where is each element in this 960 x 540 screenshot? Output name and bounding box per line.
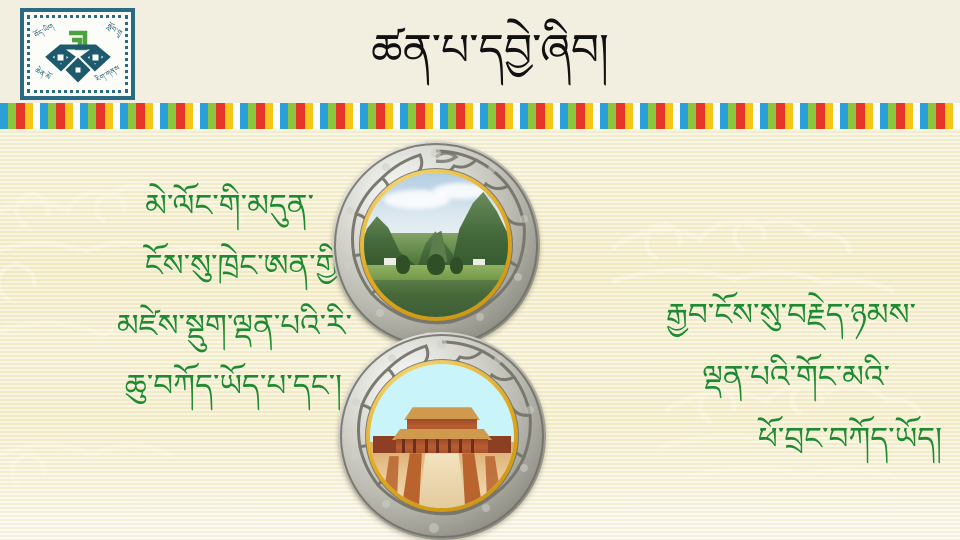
palace-central-stairway (419, 453, 465, 508)
page-title: ཚན་པ་དབྱེ་ཞིབ། (250, 10, 730, 90)
slide-header: བོད་ཡིག སློབ་གྲྭ ཆེན་མོ རིག་གནས ཚན་པ་དབྱ… (0, 0, 960, 103)
palace-scene (370, 364, 514, 508)
palace-column (413, 439, 416, 453)
palace-column (436, 439, 439, 453)
palace-lower-hall (396, 439, 488, 453)
karst-scene (364, 173, 508, 317)
right-text-line-1: རྒྱབ་ངོས་སུ་བརྗེད་ཉམས་ (556, 284, 952, 346)
house (384, 258, 396, 265)
palace-column (471, 439, 474, 453)
palace-column (402, 439, 405, 453)
house (473, 259, 485, 265)
decorative-stripe-band (0, 103, 960, 129)
left-text-block: མེ་ལོང་གི་མདུན་ ངོས་སུ་ཁྲེང་ཨན་གྱི་ མཛེས… (0, 176, 352, 416)
water (364, 280, 508, 317)
left-text-line-1: མེ་ལོང་གི་མདུན་ (0, 176, 352, 236)
left-text-line-4: ཆུ་བཀོད་ཡོད་པ་དང་། (0, 356, 352, 416)
right-text-line-2: ལྡན་པའི་གོང་མའི་ (556, 346, 952, 408)
institution-logo: བོད་ཡིག སློབ་གྲྭ ཆེན་མོ རིག་གནས (20, 8, 135, 100)
landscape-photo (364, 173, 508, 317)
palace-column (425, 439, 428, 453)
palace-medallion (338, 332, 546, 540)
left-text-line-3: མཛེས་སྡུག་ལྡན་པའི་རི་ (0, 296, 352, 356)
right-text-line-3: ཕོ་བྲང་བཀོད་ཡོད། (556, 408, 952, 470)
palace-column (448, 439, 451, 453)
palace-photo (370, 364, 514, 508)
tree (450, 257, 463, 274)
tree (427, 254, 444, 276)
tree (396, 255, 410, 274)
landscape-medallion (332, 141, 540, 349)
logo-inner-frame: བོད་ཡིག སློབ་གྲྭ ཆེན་མོ རིག་གནས (27, 15, 128, 93)
left-text-line-2: ངོས་སུ་ཁྲེང་ཨན་གྱི་ (0, 236, 352, 296)
slide-canvas: བོད་ཡིག སློབ་གྲྭ ཆེན་མོ རིག་གནས ཚན་པ་དབྱ… (0, 0, 960, 540)
palace-column (459, 439, 462, 453)
right-text-block: རྒྱབ་ངོས་སུ་བརྗེད་ཉམས་ ལྡན་པའི་གོང་མའི་ … (556, 284, 952, 470)
